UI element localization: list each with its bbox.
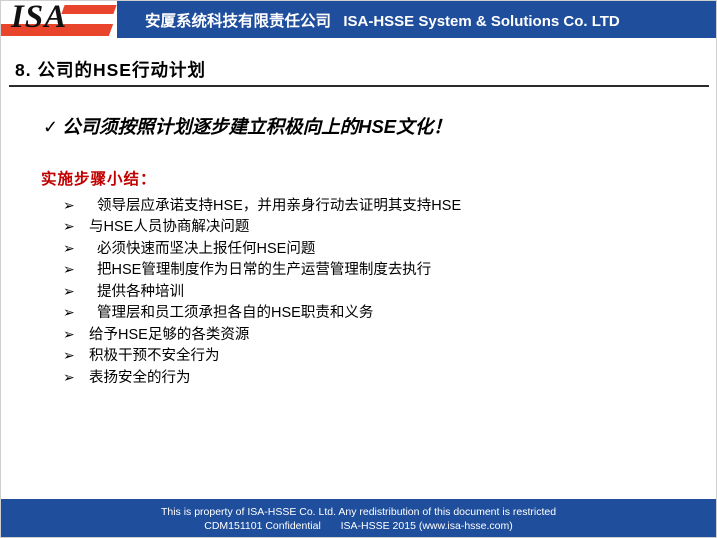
arrow-bullet-icon: ➢ [63, 371, 89, 385]
list-item-label: 领导层应承诺支持HSE，并用亲身行动去证明其支持HSE [89, 199, 461, 215]
footer-copyright: This is property of ISA-HSSE Co. Ltd. An… [1, 505, 716, 519]
list-item: ➢ 领导层应承诺支持HSE，并用亲身行动去证明其支持HSE [63, 199, 693, 215]
list-item-label: 必须快速而坚决上报任何HSE问题 [89, 242, 315, 258]
list-item-label: 表扬安全的行为 [89, 371, 191, 387]
key-claim: ✓公司须按照计划逐步建立积极向上的HSE文化！ [43, 113, 452, 139]
arrow-bullet-icon: ➢ [63, 306, 89, 320]
list-item-label: 把HSE管理制度作为日常的生产运营管理制度去执行 [89, 263, 431, 279]
section-label: 实施步骤小结： [41, 167, 157, 189]
arrow-bullet-icon: ➢ [63, 285, 89, 299]
footer-meta: CDM151101 Confidential ISA-HSSE 2015 (ww… [1, 519, 716, 533]
logo-swoosh-secondary-icon [61, 5, 116, 14]
list-item: ➢ 管理层和员工须承担各自的HSE职责和义务 [63, 306, 693, 322]
footer-doc-id: CDM151101 Confidential [204, 520, 321, 532]
arrow-bullet-icon: ➢ [63, 199, 89, 213]
logo-text: ISA [11, 1, 67, 36]
header-title-cn: 安厦系统科技有限责任公司 [145, 13, 331, 30]
slide: ISA 安厦系统科技有限责任公司 ISA-HSSE System & Solut… [0, 0, 717, 538]
list-item-label: 给予HSE足够的各类资源 [89, 328, 249, 344]
list-item: ➢ 给予HSE足够的各类资源 [63, 328, 693, 344]
header-title: 安厦系统科技有限责任公司 ISA-HSSE System & Solutions… [117, 9, 716, 31]
header-title-en: ISA-HSSE System & Solutions Co. LTD [343, 13, 619, 30]
arrow-bullet-icon: ➢ [63, 242, 89, 256]
arrow-bullet-icon: ➢ [63, 349, 89, 363]
list-item: ➢ 积极干预不安全行为 [63, 349, 693, 365]
list-item-label: 积极干预不安全行为 [89, 349, 220, 365]
slide-footer: This is property of ISA-HSSE Co. Ltd. An… [1, 499, 716, 537]
list-item-label: 与HSE人员协商解决问题 [89, 220, 249, 236]
company-logo: ISA [1, 1, 117, 38]
list-item-label: 提供各种培训 [89, 285, 184, 301]
arrow-bullet-icon: ➢ [63, 220, 89, 234]
check-icon: ✓ [43, 117, 58, 137]
arrow-bullet-icon: ➢ [63, 328, 89, 342]
footer-site: ISA-HSSE 2015 (www.isa-hsse.com) [341, 520, 513, 532]
key-claim-text: 公司须按照计划逐步建立积极向上的HSE文化！ [62, 116, 452, 137]
list-item: ➢ 必须快速而坚决上报任何HSE问题 [63, 242, 693, 258]
list-item-label: 管理层和员工须承担各自的HSE职责和义务 [89, 306, 373, 322]
list-item: ➢ 表扬安全的行为 [63, 371, 693, 387]
list-item: ➢ 与HSE人员协商解决问题 [63, 220, 693, 236]
title-divider [9, 85, 709, 87]
bullet-list: ➢ 领导层应承诺支持HSE，并用亲身行动去证明其支持HSE ➢ 与HSE人员协商… [63, 199, 693, 392]
list-item: ➢ 提供各种培训 [63, 285, 693, 301]
list-item: ➢ 把HSE管理制度作为日常的生产运营管理制度去执行 [63, 263, 693, 279]
page-title: 8. 公司的HSE行动计划 [15, 57, 206, 82]
slide-header: ISA 安厦系统科技有限责任公司 ISA-HSSE System & Solut… [1, 1, 716, 38]
arrow-bullet-icon: ➢ [63, 263, 89, 277]
